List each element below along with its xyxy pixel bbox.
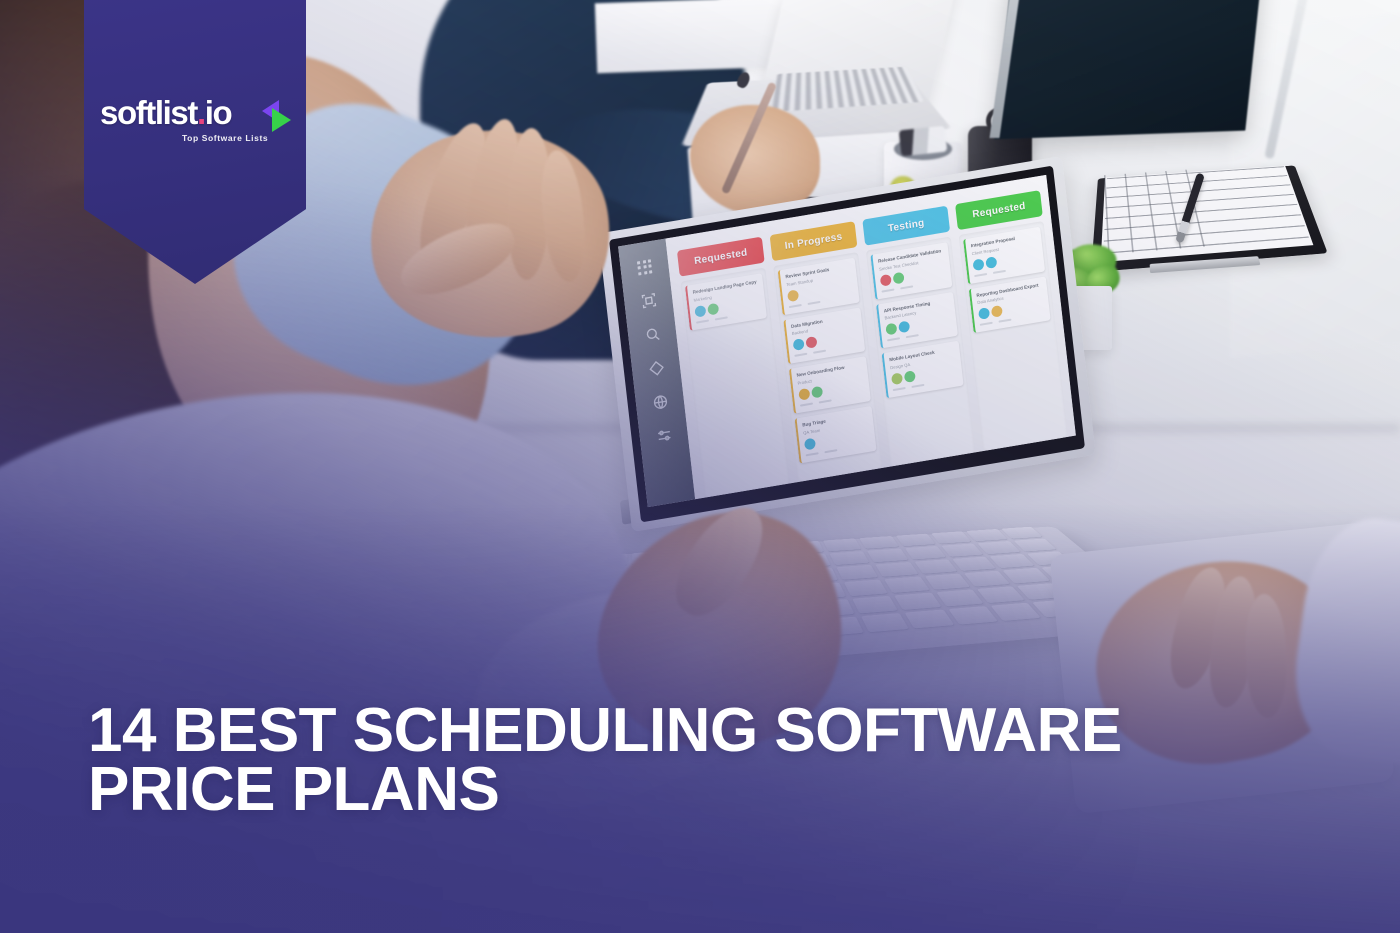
keyboard-key[interactable] <box>861 613 909 632</box>
keyboard-key[interactable] <box>952 557 996 572</box>
grid-icon[interactable] <box>635 257 654 277</box>
keyboard-key[interactable] <box>936 589 984 606</box>
avatar[interactable] <box>880 274 892 287</box>
title-line-2: Price Plans <box>88 760 1318 820</box>
settings-icon[interactable] <box>654 426 673 446</box>
title-line-1: 14 Best Scheduling Software <box>88 701 1318 761</box>
kanban-column-body: Redesign Landing Page CopyMarketing <box>680 267 789 497</box>
brand-logo[interactable]: softlist.io Top Software Lists <box>100 96 300 154</box>
keyboard-key[interactable] <box>1003 568 1050 583</box>
keyboard-key[interactable] <box>966 529 1007 541</box>
keyboard-key[interactable] <box>941 544 983 558</box>
avatar[interactable] <box>811 386 823 399</box>
kanban-column: RequestedRedesign Landing Page CopyMarke… <box>677 237 790 498</box>
keyboard-key[interactable] <box>896 534 936 547</box>
avatar[interactable] <box>991 305 1003 318</box>
kanban-card[interactable]: Redesign Landing Page CopyMarketing <box>685 273 767 330</box>
keyboard-key[interactable] <box>964 571 1010 587</box>
avatar[interactable] <box>793 338 805 351</box>
avatar[interactable] <box>891 372 903 385</box>
monitor <box>994 0 1264 139</box>
avatar[interactable] <box>985 256 997 269</box>
kanban-column-body: Integration ProposalClient RequestReport… <box>959 221 1068 451</box>
kanban-card[interactable]: Bug TriageQA Team <box>795 406 877 463</box>
kanban-card[interactable]: API Response TimingBackend Latency <box>876 291 958 348</box>
keyboard-key[interactable] <box>931 531 972 544</box>
keyboard-key[interactable] <box>914 559 957 574</box>
kanban-column: In ProgressReview Sprint GoalsTeam Stand… <box>770 221 883 482</box>
logo-green-triangle-icon <box>272 108 291 132</box>
keyboard-key[interactable] <box>860 536 899 549</box>
avatar[interactable] <box>885 323 897 336</box>
avatar[interactable] <box>798 388 810 401</box>
keyboard-key[interactable] <box>885 577 930 593</box>
pen-cup-contents <box>899 126 947 157</box>
keyboard-key[interactable] <box>977 586 1025 603</box>
keyboard-key[interactable] <box>867 549 908 563</box>
avatar[interactable] <box>694 305 706 318</box>
kanban-card[interactable]: Review Sprint GoalsTeam Standup <box>778 258 860 315</box>
search-icon[interactable] <box>643 325 662 345</box>
logo-dot: . <box>197 94 205 131</box>
kanban-column-body: Review Sprint GoalsTeam StandupData Migr… <box>773 252 882 482</box>
avatar[interactable] <box>787 289 799 302</box>
keyboard-key[interactable] <box>978 541 1021 554</box>
avatar[interactable] <box>972 258 984 271</box>
frame-icon[interactable] <box>639 291 658 311</box>
logo-wordmark: softlist.io <box>100 96 231 129</box>
keyboard-key[interactable] <box>948 606 998 625</box>
kanban-column-body: Release Candidate ValidationSmoke Test C… <box>866 236 975 466</box>
main-laptop: RequestedRedesign Landing Page CopyMarke… <box>560 186 1100 606</box>
diamond-icon[interactable] <box>647 359 666 379</box>
kanban-column: TestingRelease Candidate ValidationSmoke… <box>862 206 975 467</box>
avatar[interactable] <box>707 302 719 315</box>
avatar[interactable] <box>898 321 910 334</box>
keyboard-key[interactable] <box>905 546 947 560</box>
logo-name: softlist <box>100 94 197 131</box>
avatar[interactable] <box>904 370 916 383</box>
keyboard-key[interactable] <box>852 596 898 614</box>
globe-icon[interactable] <box>651 392 670 412</box>
logo-tagline: Top Software Lists <box>182 133 268 143</box>
avatar[interactable] <box>805 336 817 349</box>
kanban-column: RequestedIntegration ProposalClient Requ… <box>955 190 1068 451</box>
keyboard-key[interactable] <box>876 562 919 577</box>
keyboard-key[interactable] <box>925 574 970 590</box>
avatar[interactable] <box>978 307 990 320</box>
kanban-card[interactable]: Mobile Layout CheckDesign QA <box>882 341 964 398</box>
keyboard-key[interactable] <box>990 603 1041 621</box>
keyboard-key[interactable] <box>894 592 941 610</box>
kanban-card[interactable]: New Onboarding FlowProduct <box>789 356 871 413</box>
keyboard-key[interactable] <box>990 554 1035 568</box>
kanban-card[interactable]: Integration ProposalClient Request <box>963 227 1045 284</box>
loose-papers <box>595 0 787 73</box>
hero-banner: RequestedRedesign Landing Page CopyMarke… <box>0 0 1400 933</box>
keyboard-key[interactable] <box>829 551 869 565</box>
keyboard-key[interactable] <box>823 538 862 551</box>
keyboard-key[interactable] <box>836 565 878 580</box>
page-title: 14 Best Scheduling Software Price Plans <box>88 701 1318 820</box>
kanban-card[interactable]: Release Candidate ValidationSmoke Test C… <box>870 242 952 299</box>
kanban-card[interactable]: Reporting Dashboard ExportData Analytics <box>969 276 1051 333</box>
kanban-card[interactable]: Data MigrationBackend <box>783 307 865 364</box>
keyboard-key[interactable] <box>905 609 954 628</box>
keyboard-key[interactable] <box>844 580 888 596</box>
logo-tld: io <box>205 94 232 131</box>
avatar[interactable] <box>804 437 816 450</box>
avatar[interactable] <box>893 271 905 284</box>
